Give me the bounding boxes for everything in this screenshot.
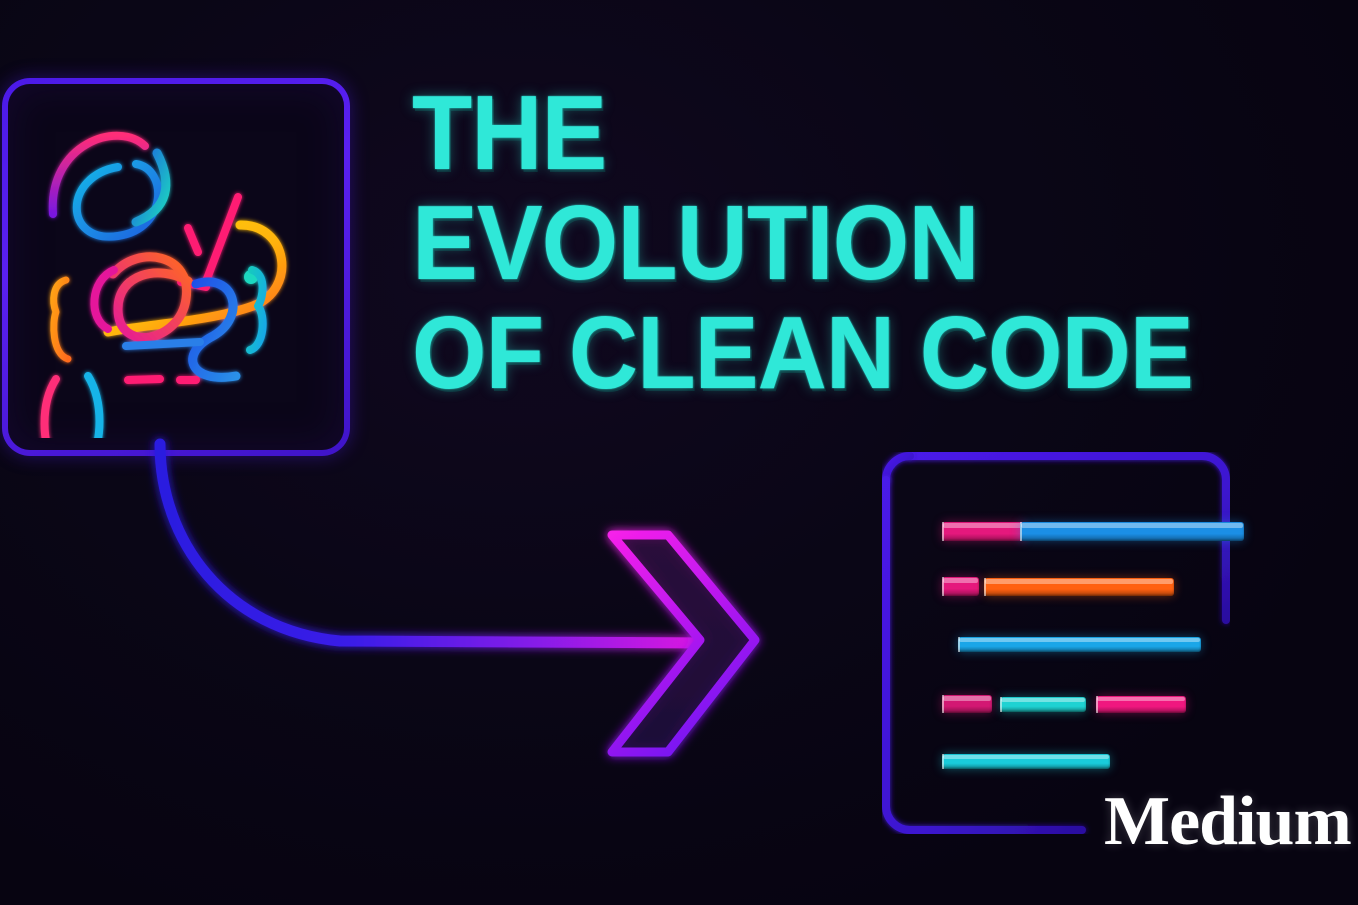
title-line-2: EVOLUTION (412, 188, 1193, 298)
line-1-keyword (942, 522, 1025, 541)
page-title: THE EVOLUTION OF CLEAN CODE (412, 78, 1252, 408)
line-5-value (942, 754, 1110, 769)
title-line-3: OF CLEAN CODE (412, 298, 1193, 408)
line-3-value (958, 637, 1201, 652)
line-4-middle (1000, 697, 1086, 712)
line-1-value (1020, 522, 1244, 541)
title-line-1: THE (412, 78, 1193, 188)
line-4-end (1096, 696, 1186, 713)
clean-code-box (882, 452, 1230, 834)
line-2-value (984, 578, 1174, 596)
arrowhead-chevron (612, 535, 755, 752)
connector-curve (160, 444, 710, 643)
medium-wordmark: Medium (1104, 787, 1351, 857)
messy-scribbles (8, 84, 332, 438)
poster-canvas: THE EVOLUTION OF CLEAN CODE (0, 0, 1358, 905)
messy-code-box (2, 78, 350, 456)
line-4-keyword (942, 695, 992, 713)
line-2-keyword (942, 577, 979, 596)
